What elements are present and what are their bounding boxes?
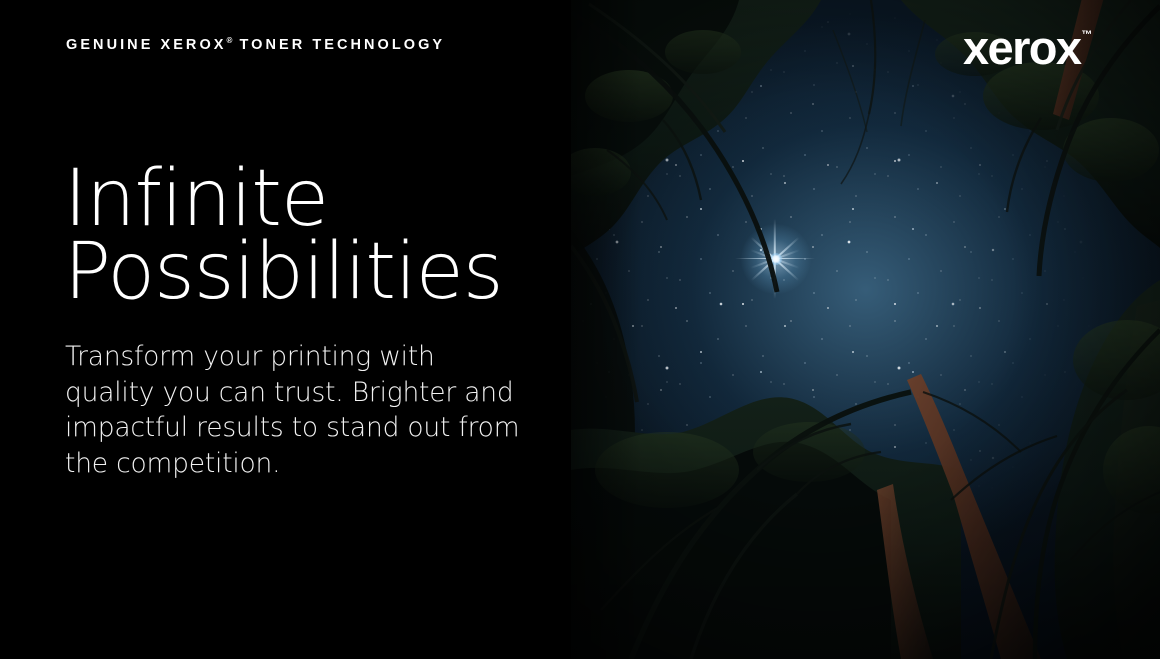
eyebrow-kicker: GENUINE XEROX® TONER TECHNOLOGY	[66, 36, 445, 53]
night-sky-photo: xerox™	[571, 0, 1160, 659]
body-line-3: impactful results to stand out from	[65, 410, 505, 446]
body-copy: Transform your printing with quality you…	[65, 339, 505, 481]
body-line-2: quality you can trust. Brighter and	[65, 375, 505, 411]
headline-line-1: Infinite	[64, 163, 503, 236]
tree-silhouettes	[571, 0, 1160, 659]
headline-line-2: Possibilities	[64, 236, 503, 309]
page-title: Infinite Possibilities	[64, 163, 503, 309]
eyebrow-text-after: TONER TECHNOLOGY	[232, 37, 445, 53]
body-line-4: the competition.	[65, 446, 505, 482]
trademark-icon: ™	[1081, 29, 1092, 41]
xerox-toner-banner: GENUINE XEROX® TONER TECHNOLOGY Infinite…	[0, 0, 1160, 659]
eyebrow-text-before: GENUINE XEROX	[66, 37, 227, 53]
left-content-panel: GENUINE XEROX® TONER TECHNOLOGY Infinite…	[0, 0, 571, 659]
body-line-1: Transform your printing with	[65, 339, 505, 375]
xerox-logo: xerox™	[963, 24, 1092, 71]
xerox-wordmark: xerox	[963, 21, 1080, 74]
